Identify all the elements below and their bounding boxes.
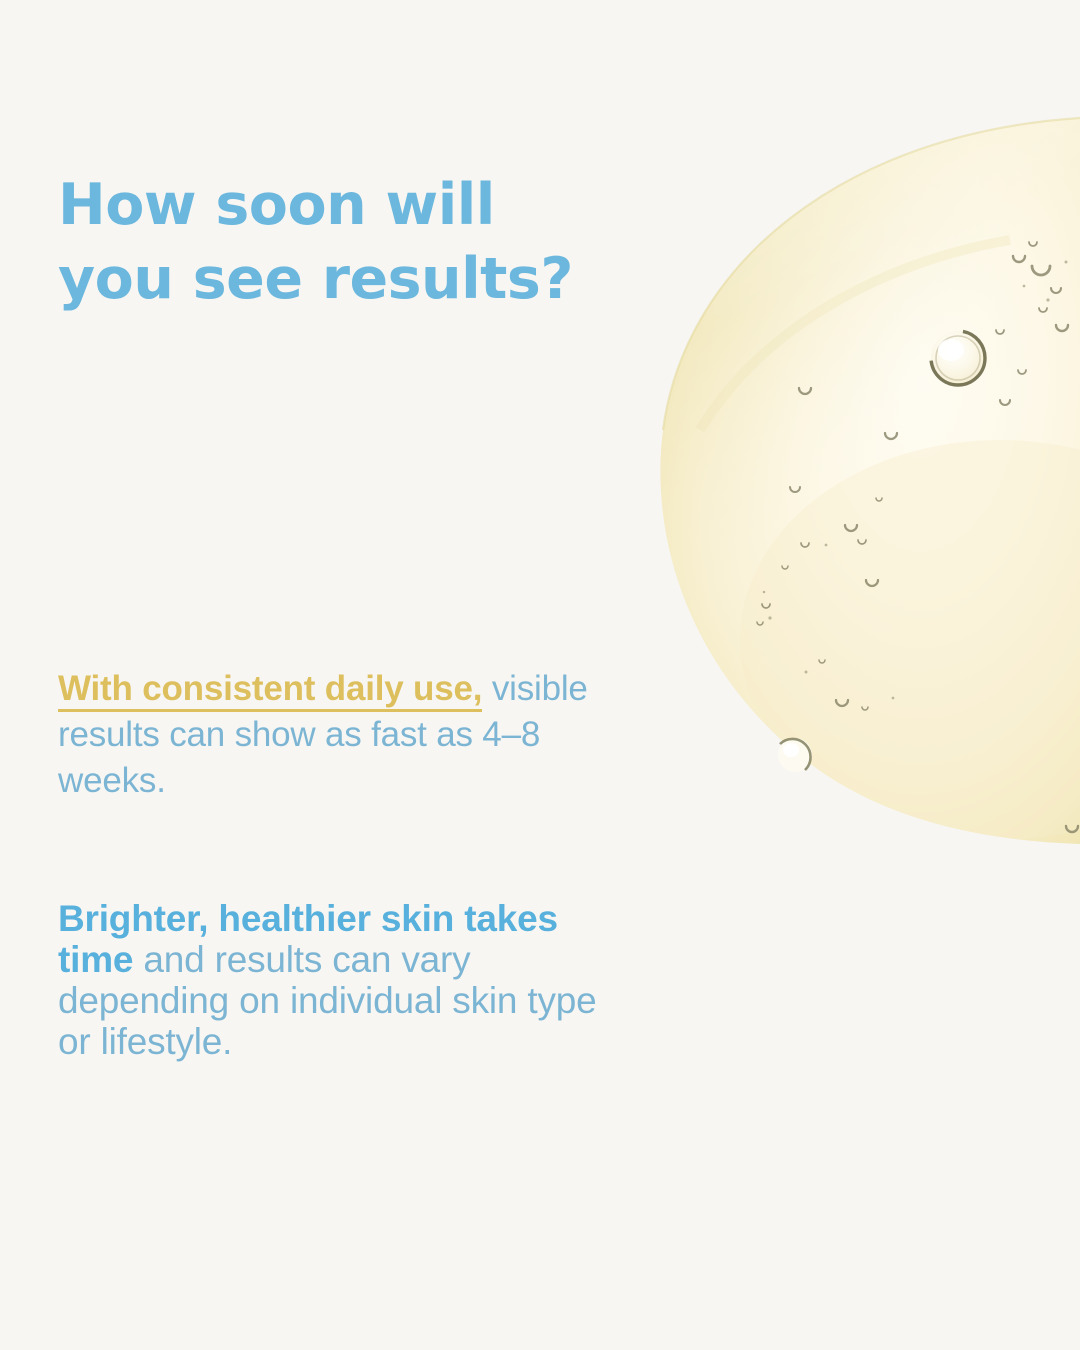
- bubble-edge: [778, 738, 812, 772]
- paragraph-block-disclaimer: Brighter, healthier skin takes time and …: [58, 898, 618, 1062]
- page-title: How soon will you see results?: [58, 168, 658, 316]
- text-column: How soon will you see results? With cons…: [58, 0, 678, 1350]
- droplet-bubbles: [757, 242, 1078, 832]
- poster-canvas: How soon will you see results? With cons…: [0, 0, 1080, 1350]
- paragraph-timeline: With consistent daily use, visible resul…: [58, 666, 618, 804]
- bubble-large: [931, 331, 985, 385]
- emphasis-consistent-use: With consistent daily use,: [58, 669, 482, 712]
- paragraph-disclaimer-body: and results can vary depending on indivi…: [58, 939, 597, 1062]
- paragraph-disclaimer: Brighter, healthier skin takes time and …: [58, 898, 618, 1062]
- paragraph-block-timeline: With consistent daily use, visible resul…: [58, 666, 618, 804]
- droplet-edge-highlight: [663, 118, 1080, 430]
